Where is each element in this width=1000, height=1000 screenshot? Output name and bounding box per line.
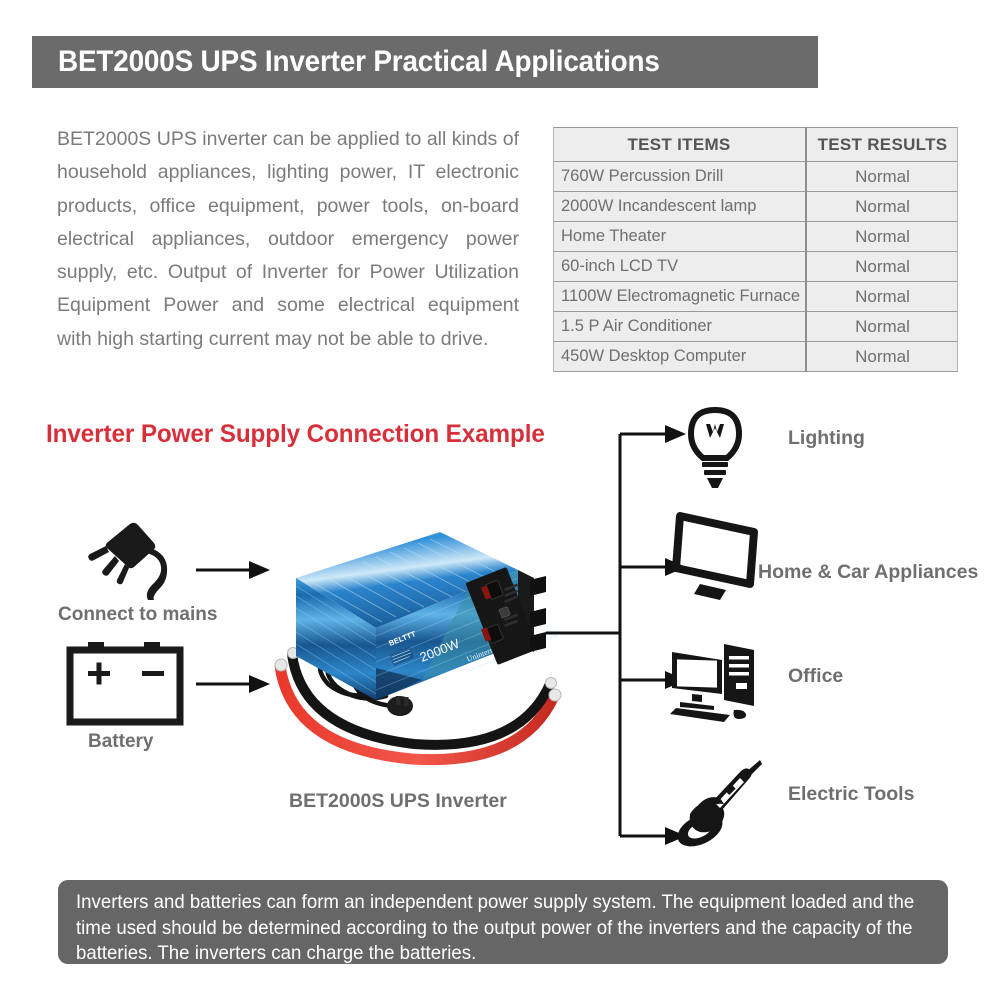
ac-plug-head [387,696,413,716]
input-label-battery: Battery [88,731,153,753]
footer-note-box: Inverters and batteries can form an inde… [58,880,948,964]
infographic-page: BET2000S UPS Inverter Practical Applicat… [0,0,1000,1000]
output-label-office: Office [788,665,843,688]
battery-icon [64,640,188,728]
sine-wave-glyph [485,664,515,693]
product-caption: BET2000S UPS Inverter [289,790,507,813]
output-label-tools: Electric Tools [788,783,914,806]
output-label-appliances: Home & Car Appliances [758,561,978,584]
desktop-computer-icon [666,640,766,724]
input-label-mains: Connect to mains [58,604,217,626]
output-label-lighting: Lighting [788,427,865,450]
power-plug-icon [82,512,192,604]
inverter-product-image: BELTTT 2000W Uninterruptible Power Sourc… [272,516,572,772]
television-icon [668,510,764,604]
angle-grinder-icon [670,758,766,850]
light-bulb-icon [672,404,758,496]
connection-diagram-lines [0,0,1000,1000]
footer-note-text: Inverters and batteries can form an inde… [76,890,951,967]
